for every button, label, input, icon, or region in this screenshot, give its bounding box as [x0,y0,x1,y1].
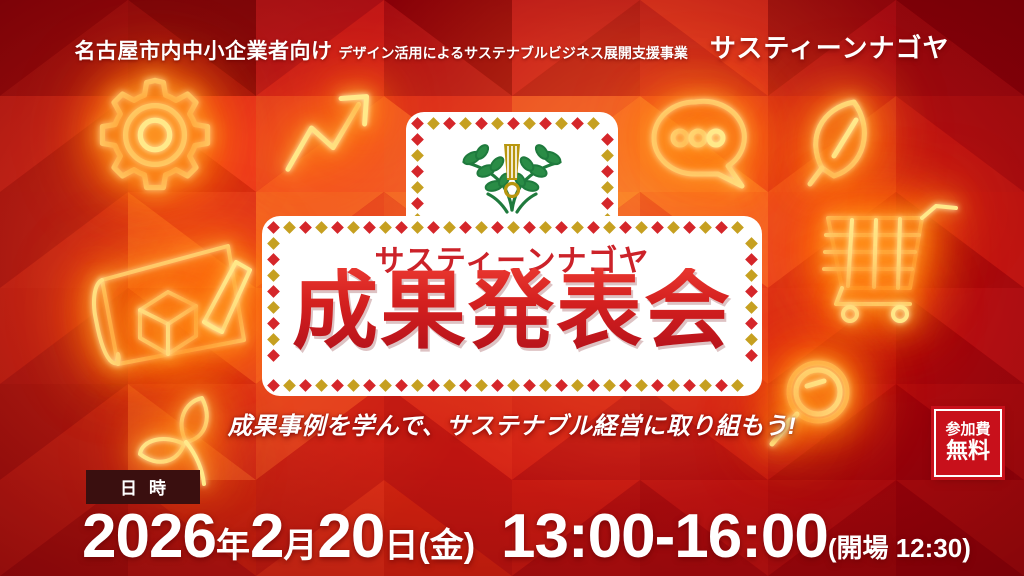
border-diamond [475,379,488,392]
fee-label: 参加費 [945,422,990,439]
datetime-line: 2026 年 2 月 20 日 (金) 13:00-16:00 (開場 12:3… [44,506,980,568]
border-diamond [427,117,440,130]
tagline: 成果事例を学んで、サステナブル経営に取り組もう! [0,406,1024,441]
header-program: デザイン活用によるサステナブルビジネス展開支援事業 [339,43,688,63]
border-diamond [603,379,616,392]
date-year-unit: 年 [216,529,250,563]
brand-logo-text: サスティーンナゴヤ [710,28,950,65]
border-diamond [331,221,344,234]
border-diamond [491,117,504,130]
border-diamond [411,221,424,234]
date-weekday: (金) [418,529,475,563]
border-diamond [601,133,614,146]
border-diamond [601,149,614,162]
border-diamond [587,379,600,392]
border-diamond [411,181,424,194]
border-diamond [715,221,728,234]
border-diamond [699,379,712,392]
fee-badge: 参加費 無料 [934,409,1002,477]
border-diamond [731,379,744,392]
border-diamond [603,221,616,234]
border-diamond [379,221,392,234]
border-diamond [651,379,664,392]
border-diamond [651,221,664,234]
border-diamond [395,379,408,392]
border-diamond [331,379,344,392]
border-diamond [363,221,376,234]
border-diamond [411,149,424,162]
border-diamond [395,221,408,234]
date-month-unit: 月 [283,529,317,563]
border-diamond [443,379,456,392]
border-diamond [491,221,504,234]
border-diamond [555,117,568,130]
border-diamond [299,379,312,392]
border-diamond [427,221,440,234]
border-diamond [715,379,728,392]
border-diamond [555,221,568,234]
border-diamond [587,221,600,234]
border-diamond [539,221,552,234]
border-diamond [619,221,632,234]
border-diamond [601,181,614,194]
border-diamond [601,165,614,178]
border-diamond [635,221,648,234]
border-diamond [411,117,424,130]
border-diamond [315,221,328,234]
doors-open-time: (開場 12:30) [828,535,971,561]
border-diamond [283,379,296,392]
border-diamond [427,379,440,392]
date-day-unit: 日 [384,529,418,563]
border-diamond [267,221,280,234]
border-diamond [507,117,520,130]
border-diamond [475,221,488,234]
datetime-label: 日時 [86,470,200,504]
border-diamond [411,165,424,178]
border-diamond [601,197,614,210]
border-diamond [315,379,328,392]
border-diamond [731,221,744,234]
border-diamond [443,117,456,130]
event-title-badge: サスティーンナゴヤ 成果発表会 [262,112,762,396]
border-diamond [619,379,632,392]
border-diamond [299,221,312,234]
border-diamond [379,379,392,392]
border-diamond [667,221,680,234]
border-diamond [267,379,280,392]
border-diamond [539,117,552,130]
border-diamond [683,221,696,234]
badge-main-panel: サスティーンナゴヤ 成果発表会 [262,216,762,396]
border-diamond [683,379,696,392]
date-month: 2 [250,506,283,568]
border-diamond [507,379,520,392]
border-diamond [411,197,424,210]
border-diamond [411,133,424,146]
border-diamond [283,221,296,234]
header-text-group: 名古屋市内中小企業者向け デザイン活用によるサステナブルビジネス展開支援事業 [75,35,688,65]
exclamation-mark [504,144,520,197]
border-diamond [667,379,680,392]
border-diamond [491,379,504,392]
border-diamond [363,379,376,392]
border-diamond [523,221,536,234]
border-diamond [635,379,648,392]
event-poster: 名古屋市内中小企業者向け デザイン活用によるサステナブルビジネス展開支援事業 サ… [0,0,1024,576]
border-diamond [443,221,456,234]
date-year: 2026 [82,506,216,568]
badge-title: 成果発表会 [262,268,762,354]
border-diamond [459,379,472,392]
badge-top-panel [406,112,618,230]
laurel-wreath-exclamation-emblem [452,138,572,214]
border-diamond [523,117,536,130]
border-diamond [571,379,584,392]
border-diamond [571,117,584,130]
border-diamond [459,117,472,130]
border-diamond [587,117,600,130]
border-diamond [347,379,360,392]
header-audience: 名古屋市内中小企業者向け [75,35,333,65]
time-range: 13:00-16:00 [501,506,828,568]
header: 名古屋市内中小企業者向け デザイン活用によるサステナブルビジネス展開支援事業 サ… [0,28,1024,65]
border-diamond [539,379,552,392]
border-diamond [699,221,712,234]
border-diamond [411,379,424,392]
border-diamond [507,221,520,234]
border-diamond [571,221,584,234]
border-diamond [523,379,536,392]
datetime-block: 日時 2026 年 2 月 20 日 (金) 13:00-16:00 (開場 1… [0,470,1024,568]
border-diamond [347,221,360,234]
fee-value: 無料 [946,439,990,464]
border-diamond [459,221,472,234]
border-diamond [555,379,568,392]
border-diamond [475,117,488,130]
date-day: 20 [317,506,384,568]
